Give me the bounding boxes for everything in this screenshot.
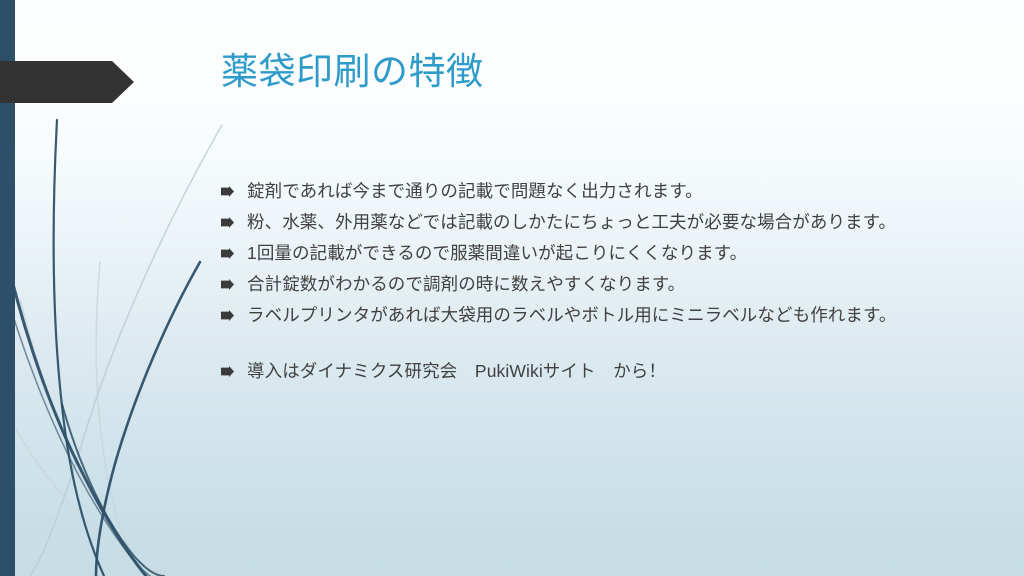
pennant-arrow-bullet-icon — [221, 300, 247, 326]
pennant-arrow-bullet-icon — [221, 269, 247, 295]
title-banner-arrow-shape — [0, 61, 134, 103]
slide-title: 薬袋印刷の特徴 — [221, 48, 961, 96]
pennant-arrow-bullet-icon — [221, 207, 247, 233]
pennant-arrow-bullet-icon — [221, 356, 247, 382]
list-item-label: ラベルプリンタがあれば大袋用のラベルやボトル用にミニラベルなども作れます。 — [247, 300, 1011, 330]
list-item-label: 1回量の記載ができるので服薬間違いが起こりにくくなります。 — [247, 238, 1011, 268]
slide-body-bullet-list: 錠剤であれば今まで通りの記載で問題なく出力されます。 粉、水薬、外用薬などでは記… — [221, 176, 1011, 387]
list-item: 粉、水薬、外用薬などでは記載のしかたにちょっと工夫が必要な場合があります。 — [221, 207, 1011, 238]
list-item-label: 合計錠数がわかるので調剤の時に数えやすくなります。 — [247, 269, 1011, 299]
presentation-slide: 薬袋印刷の特徴 錠剤であれば今まで通りの記載で問題なく出力されます。 粉、水薬、… — [0, 0, 1024, 576]
list-item-label: 導入はダイナミクス研究会 PukiWikiサイト から！ — [247, 356, 1011, 386]
list-item: 1回量の記載ができるので服薬間違いが起こりにくくなります。 — [221, 238, 1011, 269]
list-item: 導入はダイナミクス研究会 PukiWikiサイト から！ — [221, 356, 1011, 387]
list-item: ラベルプリンタがあれば大袋用のラベルやボトル用にミニラベルなども作れます。 — [221, 300, 1011, 331]
list-item: 合計錠数がわかるので調剤の時に数えやすくなります。 — [221, 269, 1011, 300]
pennant-arrow-bullet-icon — [221, 176, 247, 202]
pennant-arrow-bullet-icon — [221, 238, 247, 264]
list-item-label: 錠剤であれば今まで通りの記載で問題なく出力されます。 — [247, 176, 1011, 206]
list-item: 錠剤であれば今まで通りの記載で問題なく出力されます。 — [221, 176, 1011, 207]
list-item-label: 粉、水薬、外用薬などでは記載のしかたにちょっと工夫が必要な場合があります。 — [247, 207, 1011, 237]
